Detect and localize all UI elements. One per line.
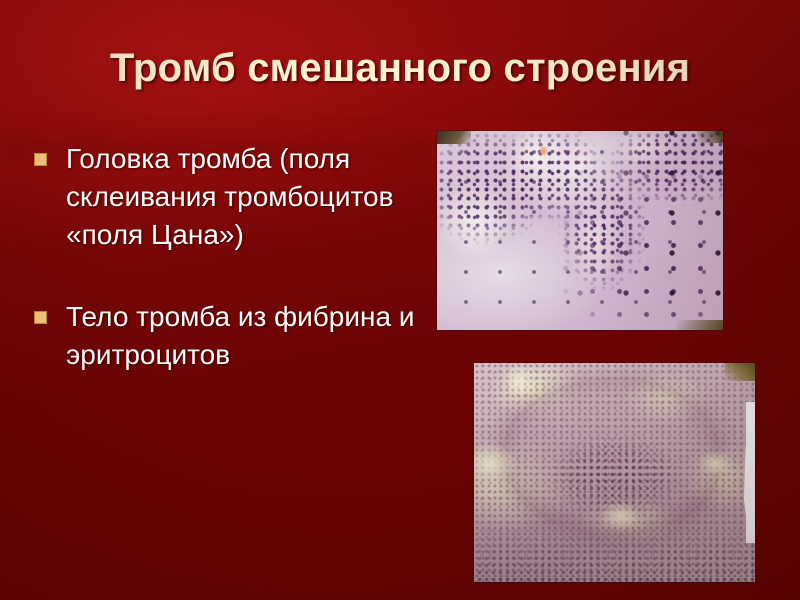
bullet-list: Головка тромба (поля склеивания тромбоци… — [34, 140, 434, 378]
square-bullet-icon — [34, 311, 47, 324]
slide-title: Тромб смешанного строения — [0, 44, 800, 92]
micrograph-dark-specks — [437, 131, 723, 330]
micrograph-thrombus-head — [437, 131, 723, 330]
micrograph-corner-artifact-tr — [725, 363, 755, 381]
micrograph-warm-spot — [540, 147, 547, 155]
micrograph-corner-artifact-tl — [437, 131, 471, 144]
micrograph-thrombus-body — [474, 363, 755, 582]
micrograph-shading — [474, 363, 755, 582]
list-item: Тело тромба из фибрина и эритроцитов — [34, 298, 434, 374]
bullet-text-1: Головка тромба (поля склеивания тромбоци… — [66, 140, 434, 254]
micrograph-corner-artifact-tr — [697, 131, 723, 143]
micrograph-corner-artifact-br — [677, 320, 723, 330]
bullet-text-2: Тело тромба из фибрина и эритроцитов — [66, 298, 434, 374]
list-item: Головка тромба (поля склеивания тромбоци… — [34, 140, 434, 254]
presentation-slide: Тромб смешанного строения Головка тромба… — [0, 0, 800, 600]
square-bullet-icon — [34, 153, 47, 166]
